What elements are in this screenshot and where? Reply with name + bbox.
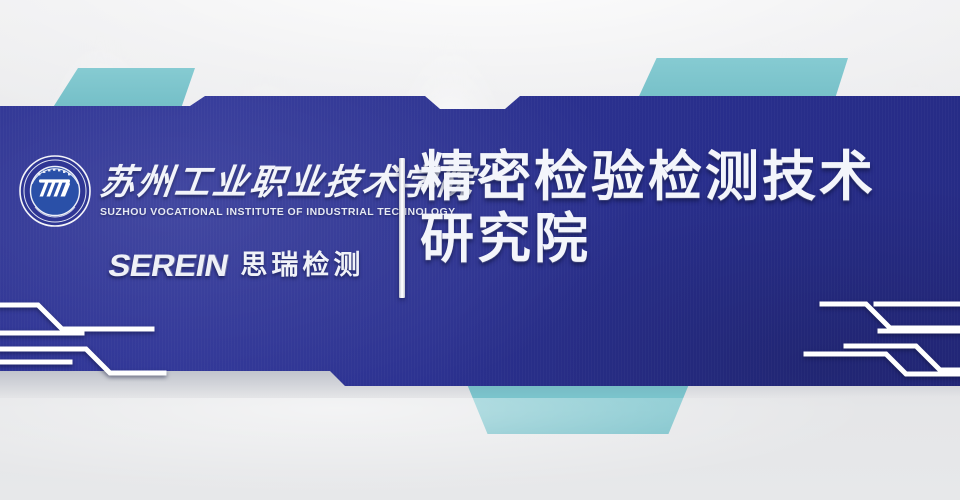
institute-title-line1: 精密检验检测技术 — [420, 146, 950, 208]
panel-content: 苏州工业职业技术学院 SUZHOU VOCATIONAL INSTITUTE O… — [0, 96, 960, 402]
siit-circular-crest-icon — [18, 154, 92, 228]
institute-title-line2: 研究院 — [420, 208, 950, 270]
floor-sheen — [0, 398, 960, 500]
university-name-en: SUZHOU VOCATIONAL INSTITUTE OF INDUSTRIA… — [100, 206, 475, 219]
partner-identity: SEREIN 思瑞检测 — [112, 249, 364, 283]
partner-name-cn: 思瑞检测 — [240, 251, 364, 281]
institute-title: 精密检验检测技术 研究院 — [420, 146, 950, 270]
university-identity: 苏州工业职业技术学院 SUZHOU VOCATIONAL INSTITUTE O… — [18, 154, 475, 228]
serein-wordmark: SEREIN — [106, 249, 231, 283]
signage-scene: 苏州工业职业技术学院 SUZHOU VOCATIONAL INSTITUTE O… — [0, 0, 960, 500]
vertical-divider-bar-icon — [399, 158, 405, 298]
